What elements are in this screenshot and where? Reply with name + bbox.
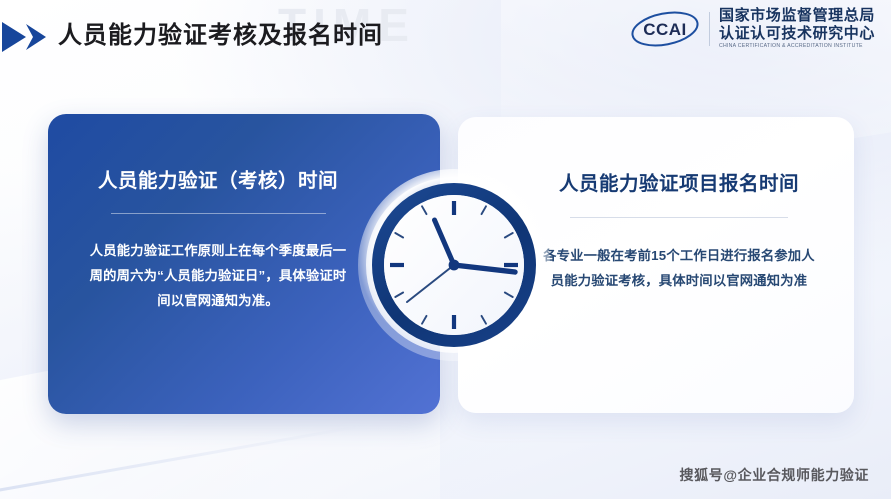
header-bar: TIME 人员能力验证考核及报名时间 CCAI 国家市场监督管理总局 bbox=[0, 0, 891, 78]
card-right-title: 人员能力验证项目报名时间 bbox=[538, 173, 820, 196]
ccai-logomark-icon: CCAI bbox=[630, 9, 700, 49]
logo-divider bbox=[709, 12, 710, 46]
analog-clock-icon bbox=[357, 168, 551, 362]
card-left-title: 人员能力验证（考核）时间 bbox=[84, 170, 352, 193]
logo-english-line: CHINA CERTIFICATION & ACCREDITATION INST… bbox=[719, 44, 875, 49]
card-right-divider bbox=[570, 217, 788, 218]
card-right-body: 各专业一般在考前15个工作日进行报名参加人员能力验证考核，具体时间以官网通知为准 bbox=[538, 243, 820, 293]
card-left-body: 人员能力验证工作原则上在每个季度最后一周的周六为“人员能力验证日”，具体验证时间… bbox=[84, 238, 352, 313]
logo-line-2: 认证认可技术研究中心 bbox=[719, 26, 875, 41]
logo-text-block: 国家市场监督管理总局 认证认可技术研究中心 CHINA CERTIFICATIO… bbox=[719, 8, 875, 49]
card-left-divider bbox=[111, 213, 326, 214]
page-title: 人员能力验证考核及报名时间 bbox=[58, 17, 383, 55]
logo-line-1: 国家市场监督管理总局 bbox=[719, 8, 875, 23]
double-chevron-right-icon bbox=[2, 20, 54, 54]
decor-line-bottom-left bbox=[0, 426, 357, 499]
ccai-logo: CCAI 国家市场监督管理总局 认证认可技术研究中心 CHINA CERTIFI… bbox=[630, 8, 875, 49]
slide-canvas: TIME 人员能力验证考核及报名时间 CCAI 国家市场监督管理总局 bbox=[0, 0, 891, 499]
sohu-watermark: 搜狐号@企业合规师能力验证 bbox=[680, 465, 869, 485]
svg-text:CCAI: CCAI bbox=[643, 20, 687, 39]
